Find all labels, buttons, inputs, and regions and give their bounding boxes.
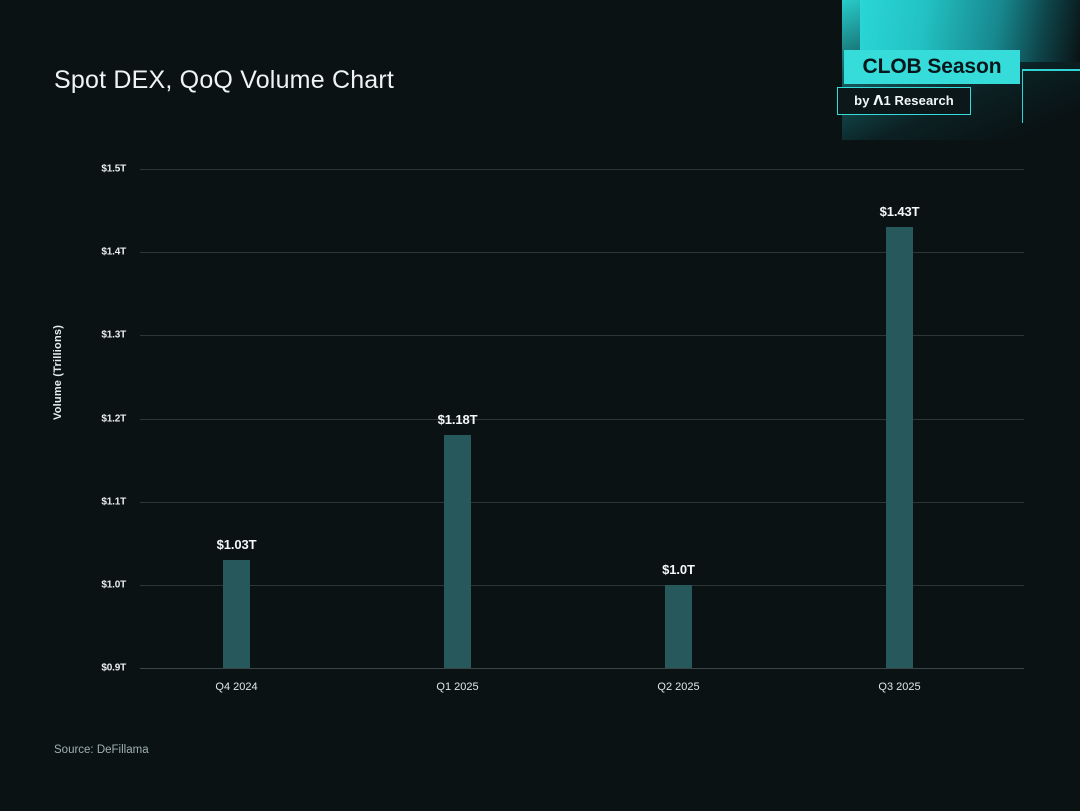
page-title: Spot DEX, QoQ Volume Chart: [54, 66, 394, 95]
bar[interactable]: [444, 435, 471, 668]
bar[interactable]: [665, 585, 692, 668]
source-note: Source: DeFillama: [54, 744, 149, 756]
bar[interactable]: [223, 560, 250, 668]
x-axis-tick-label: Q4 2024: [215, 681, 257, 693]
y-axis-tick-label: $1.5T: [66, 164, 126, 175]
bar-value-label: $1.0T: [662, 562, 695, 577]
y-axis-tick-label: $0.9T: [66, 663, 126, 674]
bar-value-label: $1.03T: [217, 537, 257, 552]
bar-value-label: $1.43T: [880, 204, 920, 219]
y-axis-tick-label: $1.2T: [66, 413, 126, 424]
bar-value-label: $1.18T: [438, 412, 478, 427]
y-axis-title: Volume (Trillions): [52, 325, 64, 420]
bar[interactable]: [886, 227, 913, 668]
y-axis-tick-label: $1.4T: [66, 247, 126, 258]
y-axis-tick-label: $1.1T: [66, 496, 126, 507]
chart-canvas: CLOB Season by Λ1 Research Spot DEX, QoQ…: [0, 0, 1080, 811]
y-axis-tick-label: $1.0T: [66, 579, 126, 590]
y-axis-tick-label: $1.3T: [66, 330, 126, 341]
logo-primary-badge: CLOB Season: [844, 50, 1020, 84]
accent-hairline-horizontal: [1022, 69, 1080, 71]
x-axis-tick-label: Q3 2025: [878, 681, 920, 693]
x-axis-tick-label: Q1 2025: [436, 681, 478, 693]
gridline: [140, 169, 1024, 170]
logo-primary-text: CLOB Season: [863, 55, 1002, 79]
logo-secondary-text: by Λ1 Research: [854, 93, 954, 109]
plot-area: $1.5T$1.4T$1.3T$1.2T$1.1T$1.0T$0.9T $1.0…: [140, 169, 1024, 668]
brand-logo: CLOB Season by Λ1 Research: [844, 50, 1024, 120]
logo-secondary-badge: by Λ1 Research: [837, 87, 971, 115]
x-axis-tick-label: Q2 2025: [657, 681, 699, 693]
gridline: [140, 668, 1024, 669]
